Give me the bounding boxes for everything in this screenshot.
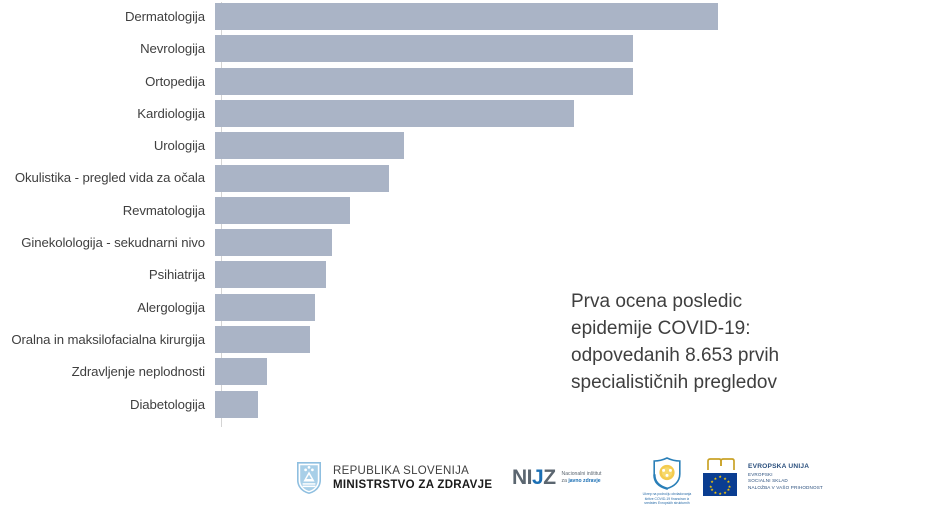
bar-label: Oralna in maksilofacialna kirurgija [0,332,213,347]
nijz-mark-pre: NI [512,466,532,489]
bar-row: Nevrologija [0,35,940,62]
eu-text-block: EVROPSKA UNIJA EVROPSKI SOCIALNI SKLAD N… [748,458,823,491]
callout-line-2: epidemije COVID-19: [571,315,871,342]
nijz-subtitle: Nacionalni inštitut za javno zdravje [562,471,602,485]
bar [215,165,389,192]
slovenia-coat-of-arms-icon [296,461,322,495]
bar-track [213,132,940,159]
bar [215,197,350,224]
bar [215,391,258,418]
project-caption-line-1: Ukrep na področju obvladovanja [643,492,692,497]
nijz-subtitle-line-2: za javno zdravje [562,478,602,485]
bar-row: Ginekolologija - sekudnarni nivo [0,229,940,256]
bar-label: Psihiatrija [0,267,213,282]
bar [215,100,574,127]
project-logo: Ukrep na področju obvladovanja širitve C… [636,456,698,506]
bar-track [213,100,940,127]
project-shield-icon [650,456,684,490]
nijz-logo: NIJZ Nacionalni inštitut za javno zdravj… [512,466,601,490]
ministry-line-1: REPUBLIKA SLOVENIJA [333,464,492,478]
bar-track [213,261,940,288]
bar-row: Psihiatrija [0,261,940,288]
project-caption: Ukrep na področju obvladovanja širitve C… [643,492,692,506]
nijz-mark-post: Z [543,466,555,489]
bar [215,261,326,288]
bar-label: Ginekolologija - sekudnarni nivo [0,235,213,250]
bar-track [213,165,940,192]
footer-logo-strip: REPUBLIKA SLOVENIJA MINISTRSTVO ZA ZDRAV… [0,452,940,508]
callout-line-3: odpovedanih 8.653 prvih [571,342,871,369]
bar [215,294,315,321]
bar-label: Revmatologija [0,203,213,218]
bar-label: Urologija [0,138,213,153]
bar-label: Ortopedija [0,74,213,89]
bar-label: Dermatologija [0,9,213,24]
bar-track [213,68,940,95]
eu-hook-icon [706,458,736,471]
bar-label: Okulistika - pregled vida za očala [0,170,213,185]
eu-flag-block: ★ ★ ★ ★ ★ ★ ★ ★ ★ ★ ★ ★ [703,458,743,496]
bar [215,35,633,62]
project-caption-line-3: sredstev Evropskih strukturnih [643,501,692,506]
bar-label: Nevrologija [0,41,213,56]
bar-label: Zdravljenje neplodnosti [0,364,213,379]
bar [215,358,267,385]
nijz-mark-j: J [532,466,543,489]
bar-row: Ortopedija [0,68,940,95]
bar-track [213,229,940,256]
bar-row: Urologija [0,132,940,159]
bar-label: Alergologija [0,300,213,315]
ministry-line-2: MINISTRSTVO ZA ZDRAVJE [333,478,492,492]
eu-line-4: NALOŽBA V VAŠO PRIHODNOST [748,485,823,491]
bar-label: Diabetologija [0,397,213,412]
nijz-subtitle-bold: javno zdravje [568,478,600,484]
nijz-subtitle-line-1: Nacionalni inštitut [562,471,602,478]
bar-row: Revmatologija [0,197,940,224]
eu-flag-icon: ★ ★ ★ ★ ★ ★ ★ ★ ★ ★ ★ ★ [703,473,737,496]
bar [215,326,310,353]
nijz-wordmark: NIJZ [512,466,556,490]
bar-track [213,3,940,30]
callout-text: Prva ocena posledic epidemije COVID-19: … [571,288,871,396]
ministry-logo: REPUBLIKA SLOVENIJA MINISTRSTVO ZA ZDRAV… [296,461,492,495]
bar-label: Kardiologija [0,106,213,121]
callout-line-1: Prva ocena posledic [571,288,871,315]
bar-row: Okulistika - pregled vida za očala [0,165,940,192]
bar [215,229,332,256]
bar [215,68,633,95]
eu-line-3: SOCIALNI SKLAD [748,478,823,484]
bar-track [213,197,940,224]
bar [215,132,404,159]
bar-row: Dermatologija [0,3,940,30]
eu-line-1: EVROPSKA UNIJA [748,463,823,472]
eu-logo: ★ ★ ★ ★ ★ ★ ★ ★ ★ ★ ★ ★ EVROPSKA UNIJA E… [703,458,823,496]
callout-line-4: specialističnih pregledov [571,369,871,396]
bar-row: Kardiologija [0,100,940,127]
bar [215,3,718,30]
bar-track [213,35,940,62]
